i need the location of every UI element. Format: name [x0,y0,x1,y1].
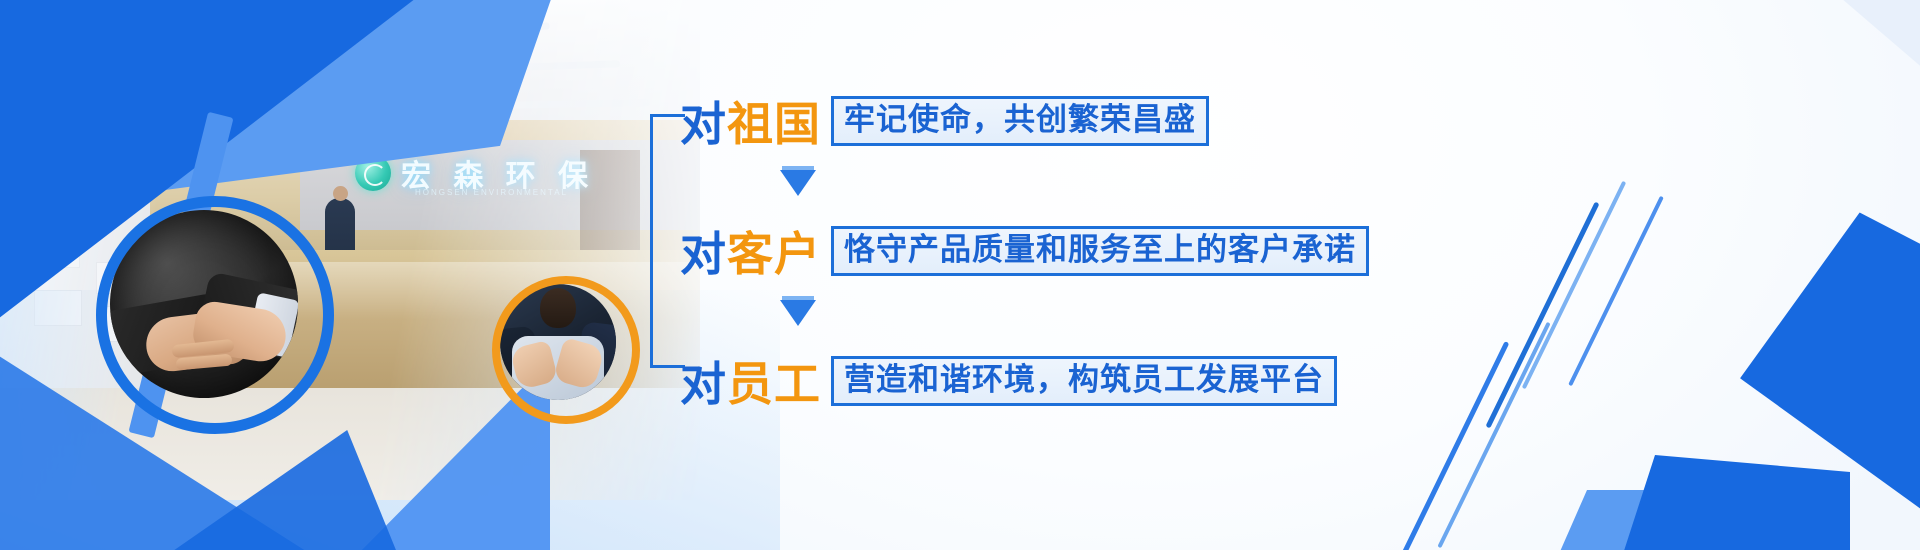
commitment-row: 对祖国 牢记使命，共创繁荣昌盛 [680,88,1209,154]
commitment-lead-prefix: 对 [680,98,727,150]
commitment-lead-prefix: 对 [680,228,727,280]
commitment-row: 对客户 恪守产品质量和服务至上的客户承诺 [680,218,1369,284]
wall-shelf [34,290,82,326]
commitment-row: 对员工 营造和谐环境，构筑员工发展平台 [680,348,1337,414]
commitment-tagline: 牢记使命，共创繁荣昌盛 [831,96,1209,147]
commitment-lead: 对祖国 [680,88,821,154]
commitment-lead-keyword: 祖国 [727,98,821,150]
company-culture-banner: 宏 森 环 保 HONGSEN ENVIRONMENTAL [0,0,1920,550]
commitment-tagline: 营造和谐环境，构筑员工发展平台 [831,356,1337,407]
commitment-lead: 对员工 [680,348,821,414]
commitment-tagline: 恪守产品质量和服务至上的客户承诺 [831,226,1369,277]
handshake-photo-ring [96,196,334,434]
commitment-lead-prefix: 对 [680,358,727,410]
commitment-lead-keyword: 客户 [727,228,821,280]
arrow-down-icon [780,300,816,326]
arrow-down-icon [780,170,816,196]
meeting-photo-ring [492,276,640,424]
commitment-lead-keyword: 员工 [727,358,821,410]
commitment-lead: 对客户 [680,218,821,284]
company-logo-subtext: HONGSEN ENVIRONMENTAL [415,188,568,197]
commitments-block: 对祖国 牢记使命，共创繁荣昌盛 对客户 恪守产品质量和服务至上的客户承诺 对员工… [650,70,1370,400]
